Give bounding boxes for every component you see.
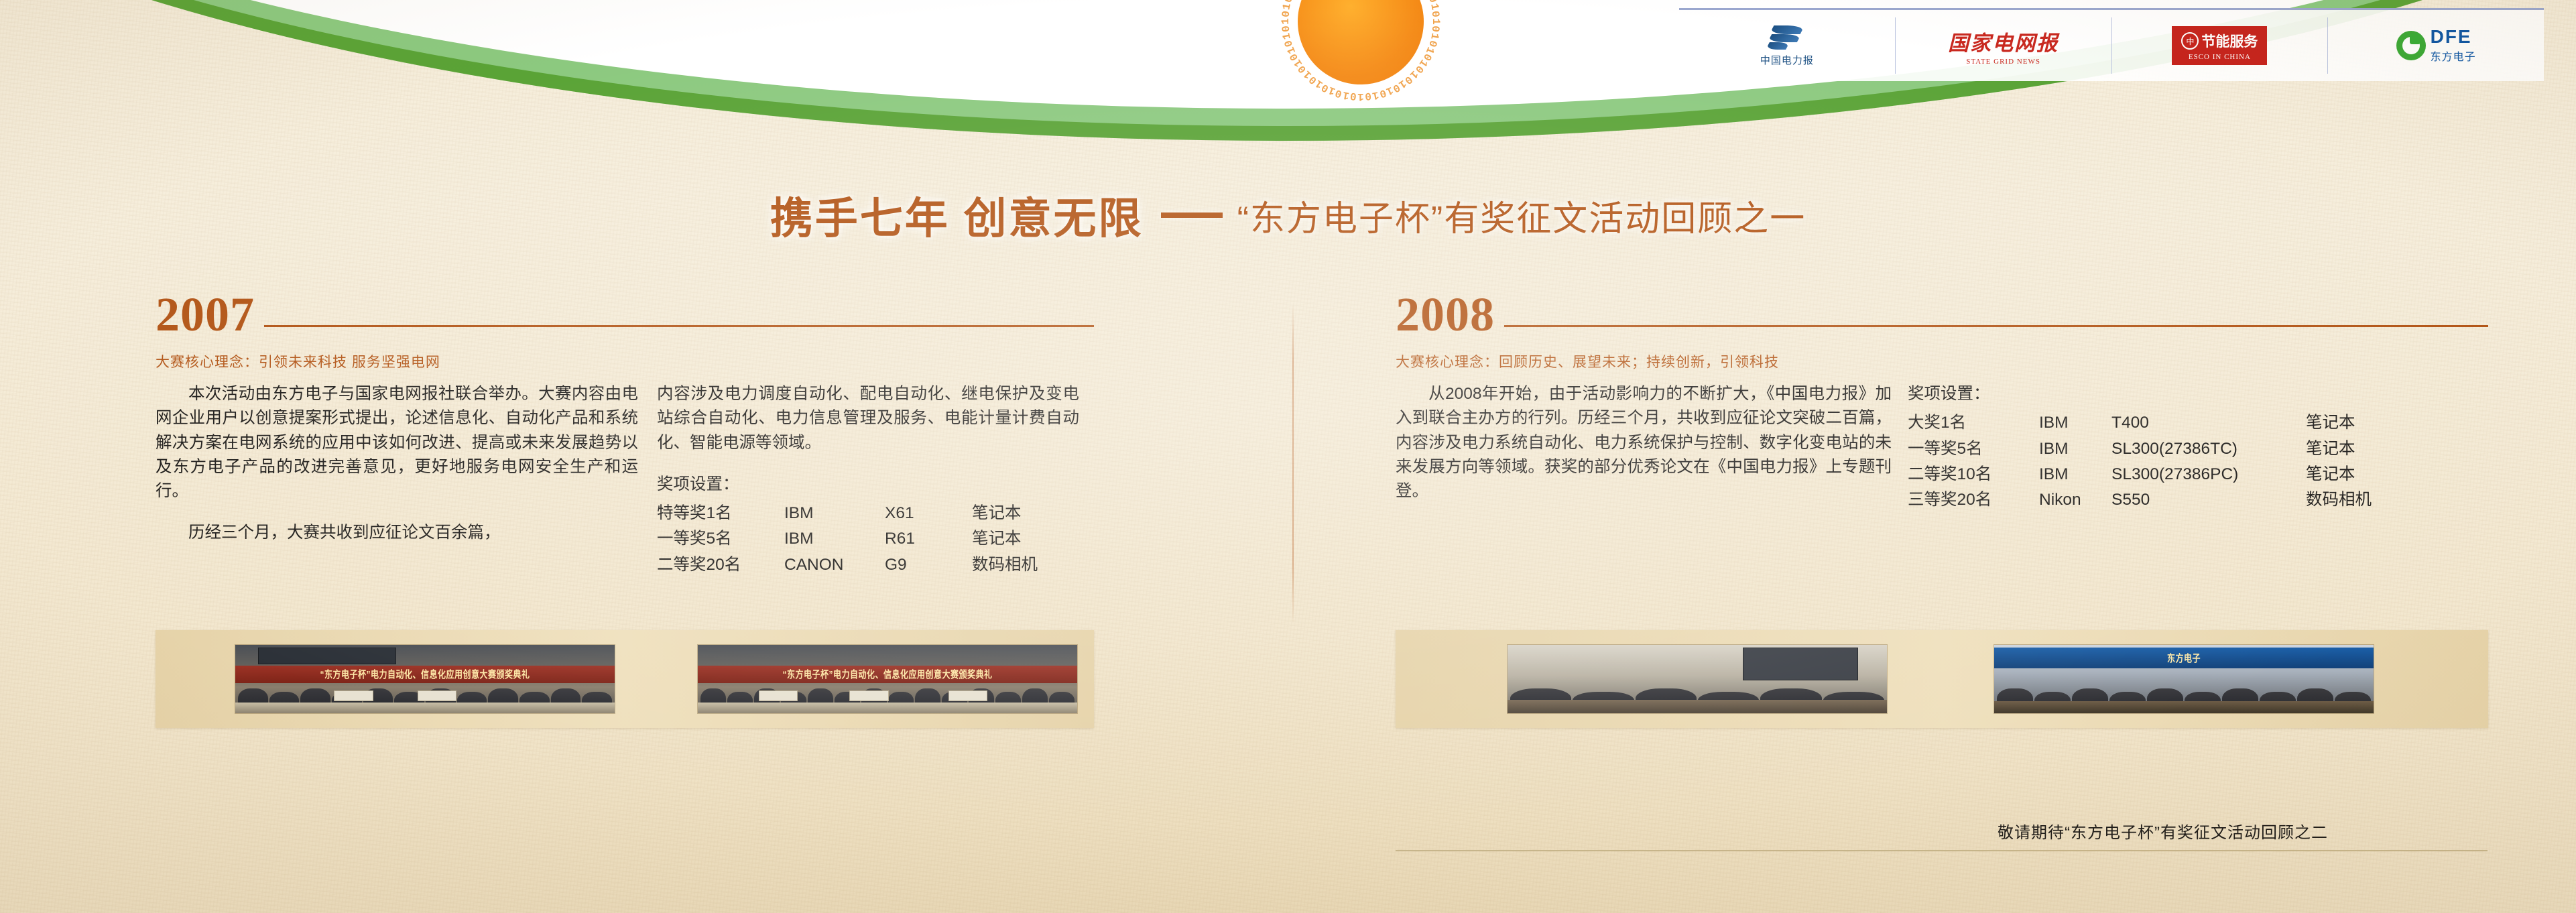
logo-label: 节能服务 (2201, 31, 2258, 51)
section-concept: 大赛核心理念：引领未来科技 服务坚强电网 (156, 351, 1094, 371)
logo-label: 中国电力报 (1760, 53, 1814, 67)
award-brand: IBM (2039, 410, 2111, 436)
body-column-right: 内容涉及电力调度自动化、配电自动化、继电保护及变电站综合自动化、电力信息管理及服… (657, 382, 1079, 578)
year-label: 2007 (156, 292, 255, 337)
photo-banner-text: 东方电子 (2167, 651, 2201, 665)
paragraph: 从2008年开始，由于活动影响力的不断扩大，《中国电力报》加入到联合主办方的行列… (1396, 382, 1892, 503)
awards-title: 奖项设置： (657, 473, 1079, 497)
footer-rule (1396, 850, 2488, 851)
award-rank: 一等奖5名 (657, 526, 784, 552)
award-prize: 笔记本 (2306, 462, 2372, 487)
table-row: 特等奖1名 IBM X61 笔记本 (657, 501, 1038, 526)
table-row: 二等奖20名 CANON G9 数码相机 (657, 552, 1038, 578)
column-divider (1292, 303, 1294, 625)
year-rule (1504, 325, 2488, 327)
award-rank: 一等奖5名 (1908, 436, 2039, 462)
logo-esco-in-china[interactable]: 中 节能服务 ESCO IN CHINA (2112, 17, 2329, 74)
year-rule (264, 325, 1094, 327)
partner-logo-bar: 中国电力报 国家电网报 STATE GRID NEWS 中 节能服务 ESCO … (1679, 8, 2544, 81)
logo-state-grid-news[interactable]: 国家电网报 STATE GRID NEWS (1896, 17, 2112, 74)
table-row: 二等奖10名 IBM SL300(27386PC) 笔记本 (1908, 462, 2372, 487)
poster-canvas: 1010101010101010101010101010101010101010… (0, 0, 2576, 913)
title-subtitle: “东方电子杯”有奖征文活动回顾之一 (1237, 190, 1806, 241)
award-prize: 数码相机 (2306, 487, 2372, 513)
sun-motif: 1010101010101010101010101010101010101010… (1260, 0, 1461, 122)
award-prize: 笔记本 (2306, 410, 2372, 436)
award-rank: 三等奖20名 (1908, 487, 2039, 513)
page-title: 携手七年 创意无限 “东方电子杯”有奖征文活动回顾之一 (0, 186, 2576, 244)
award-prize: 数码相机 (972, 552, 1038, 578)
award-rank: 二等奖10名 (1908, 462, 2039, 487)
logo-sublabel: ESCO IN CHINA (2189, 53, 2251, 61)
table-row: 三等奖20名 Nikon S550 数码相机 (1908, 487, 2372, 513)
photo-strip-2008: 东方电子 (1396, 630, 2488, 728)
awards-table-2007: 特等奖1名 IBM X61 笔记本 一等奖5名 IBM R61 笔记本 (657, 501, 1038, 578)
photo-banner-text: “东方电子杯”电力自动化、信息化应用创意大赛颁奖典礼 (782, 667, 992, 681)
logo-china-electric-power-news[interactable]: 中国电力报 (1679, 17, 1896, 74)
year-label: 2008 (1396, 292, 1495, 337)
award-brand: IBM (2039, 462, 2111, 487)
logo-dongfang-electronics[interactable]: DFE 东方电子 (2328, 17, 2544, 74)
section-header: 2007 (156, 292, 1094, 337)
award-model: G9 (885, 552, 972, 578)
award-rank: 二等奖20名 (657, 552, 784, 578)
award-model: SL300(27386PC) (2111, 462, 2306, 487)
award-brand: IBM (2039, 436, 2111, 462)
logo-sublabel: 东方电子 (2431, 48, 2476, 64)
section-concept: 大赛核心理念：回顾历史、展望未来；持续创新，引领科技 (1396, 351, 2488, 371)
photo-strip-2007: “东方电子杯”电力自动化、信息化应用创意大赛颁奖典礼 “东方电子杯”电力自动化、… (156, 630, 1094, 728)
wing-mark-icon (1769, 24, 1805, 51)
award-model: SL300(27386TC) (2111, 436, 2306, 462)
section-2007: 2007 大赛核心理念：引领未来科技 服务坚强电网 本次活动由东方电子与国家电网… (156, 292, 1094, 578)
award-model: R61 (885, 526, 972, 552)
table-row: 一等奖5名 IBM SL300(27386TC) 笔记本 (1908, 436, 2372, 462)
body-column-right: 奖项设置： 大奖1名 IBM T400 笔记本 一等奖5名 IBM SL300(… (1908, 382, 2484, 521)
event-photo (1507, 644, 1888, 714)
event-photo: “东方电子杯”电力自动化、信息化应用创意大赛颁奖典礼 (235, 644, 615, 714)
award-rank: 特等奖1名 (657, 501, 784, 526)
award-brand: Nikon (2039, 487, 2111, 513)
award-brand: CANON (784, 552, 885, 578)
china-badge-icon: 中 (2181, 32, 2199, 50)
awards-title: 奖项设置： (1908, 382, 2484, 406)
award-model: S550 (2111, 487, 2306, 513)
award-brand: IBM (784, 501, 885, 526)
body-column-left: 本次活动由东方电子与国家电网报社联合举办。大赛内容由电网企业用户以创意提案形式提… (156, 382, 638, 578)
award-rank: 大奖1名 (1908, 410, 2039, 436)
title-main: 携手七年 创意无限 (770, 184, 1144, 246)
award-model: X61 (885, 501, 972, 526)
dfe-swirl-icon (2396, 31, 2426, 60)
logo-label: 国家电网报 (1948, 26, 2059, 56)
paragraph: 内容涉及电力调度自动化、配电自动化、继电保护及变电站综合自动化、电力信息管理及服… (657, 382, 1079, 455)
footer-note: 敬请期待“东方电子杯”有奖征文活动回顾之二 (1998, 819, 2328, 843)
event-photo: “东方电子杯”电力自动化、信息化应用创意大赛颁奖典礼 (697, 644, 1078, 714)
award-prize: 笔记本 (972, 501, 1038, 526)
award-prize: 笔记本 (2306, 436, 2372, 462)
photo-banner-text: “东方电子杯”电力自动化、信息化应用创意大赛颁奖典礼 (320, 667, 530, 681)
body-column-left: 从2008年开始，由于活动影响力的不断扩大，《中国电力报》加入到联合主办方的行列… (1396, 382, 1892, 521)
paragraph: 本次活动由东方电子与国家电网报社联合举办。大赛内容由电网企业用户以创意提案形式提… (156, 382, 638, 503)
award-prize: 笔记本 (972, 526, 1038, 552)
event-photo: 东方电子 (1994, 644, 2374, 714)
section-2008: 2008 大赛核心理念：回顾历史、展望未来；持续创新，引领科技 从2008年开始… (1396, 292, 2488, 521)
logo-sublabel: STATE GRID NEWS (1966, 58, 2040, 66)
title-dash-icon (1161, 212, 1223, 218)
award-model: T400 (2111, 410, 2306, 436)
section-header: 2008 (1396, 292, 2488, 337)
table-row: 大奖1名 IBM T400 笔记本 (1908, 410, 2372, 436)
award-brand: IBM (784, 526, 885, 552)
logo-label: DFE (2431, 27, 2472, 46)
awards-table-2008: 大奖1名 IBM T400 笔记本 一等奖5名 IBM SL300(27386T… (1908, 410, 2372, 513)
table-row: 一等奖5名 IBM R61 笔记本 (657, 526, 1038, 552)
paragraph: 历经三个月，大赛共收到应征论文百余篇， (156, 521, 638, 545)
